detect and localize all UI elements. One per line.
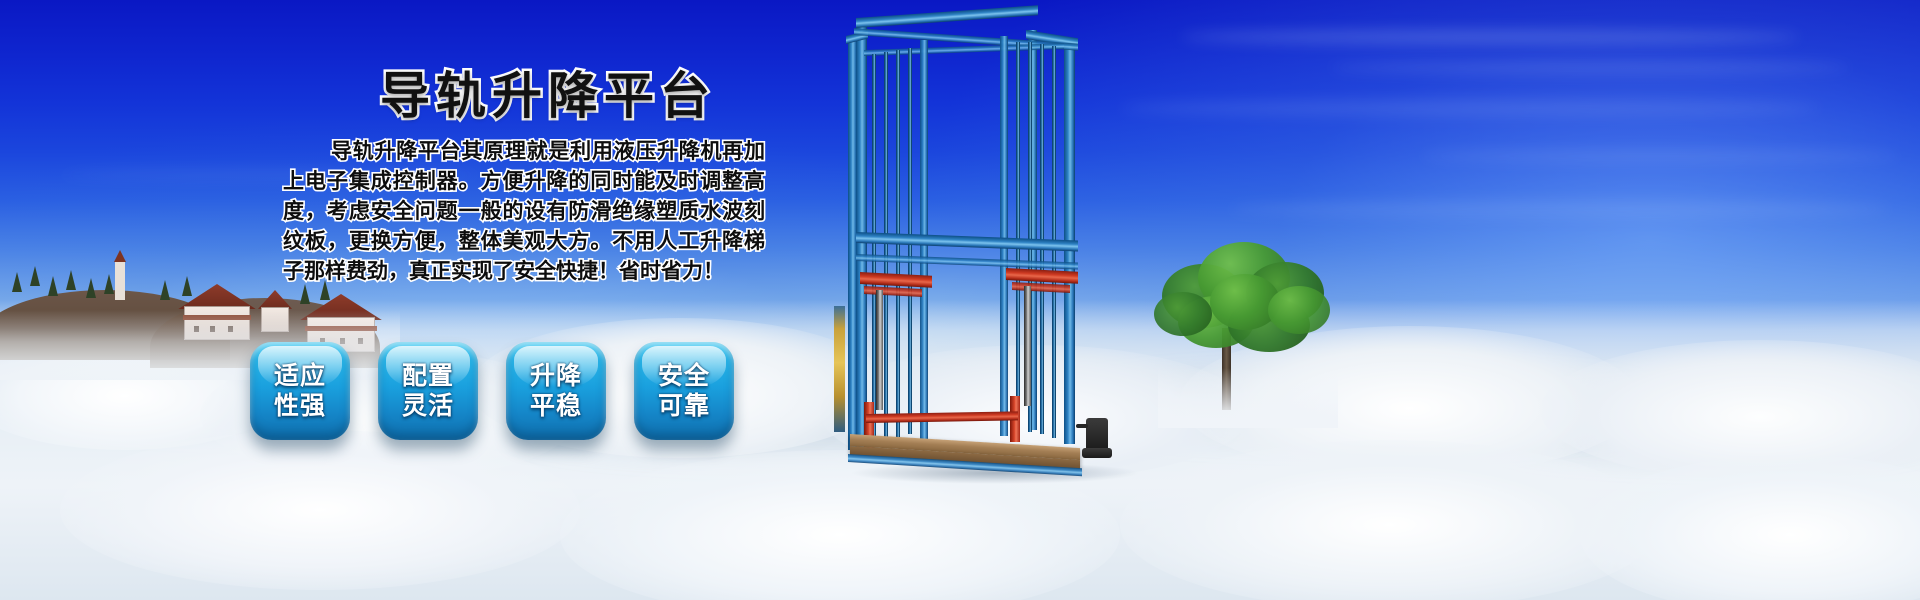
- feature-button-label-line2: 性强: [274, 391, 326, 421]
- guide-rail: [1016, 42, 1020, 432]
- pine-tree: [30, 266, 40, 286]
- tree-cloud-fade: [1158, 368, 1338, 428]
- tree-scene: [1118, 238, 1348, 398]
- lower-red-crossbar: [866, 411, 1018, 423]
- page-title: 导轨升降平台: [380, 56, 716, 128]
- power-unit: [1086, 418, 1108, 452]
- pine-tree: [66, 270, 76, 290]
- product-description: 导轨升降平台其原理就是利用液压升降机再加上电子集成控制器。方便升降的同时能及时调…: [283, 136, 765, 286]
- feature-button-adaptability[interactable]: 适应 性强: [250, 342, 350, 440]
- carriage-crossmember: [1012, 282, 1070, 293]
- tree-foliage: [1154, 292, 1212, 336]
- feature-button-group: 适应 性强 配置 灵活 升降 平稳 安全 可靠: [250, 342, 734, 440]
- church-building: [112, 260, 128, 314]
- feature-button-label-line2: 可靠: [658, 391, 710, 421]
- feature-button-safety[interactable]: 安全 可靠: [634, 342, 734, 440]
- mid-frame-beam: [856, 232, 1078, 252]
- hydraulic-cylinder: [876, 290, 883, 410]
- mid-frame-beam: [856, 254, 1078, 270]
- lift-platform-product-image: [820, 10, 1140, 480]
- feature-button-smooth-lifting[interactable]: 升降 平稳: [506, 342, 606, 440]
- feature-button-label-line1: 升降: [530, 361, 582, 391]
- pine-tree: [160, 280, 170, 300]
- feature-button-configuration[interactable]: 配置 灵活: [378, 342, 478, 440]
- centre-mast: [1000, 36, 1008, 436]
- feature-button-label-line2: 灵活: [402, 391, 454, 421]
- pine-tree: [86, 278, 96, 298]
- pine-tree: [48, 276, 58, 296]
- power-unit-base: [1082, 448, 1112, 458]
- power-unit-cable: [1076, 424, 1088, 428]
- tree-foliage: [1268, 286, 1330, 334]
- feature-button-label-line1: 适应: [274, 361, 326, 391]
- guide-rail: [884, 52, 888, 442]
- hydraulic-cylinder: [1024, 286, 1031, 406]
- pine-tree: [12, 272, 22, 292]
- feature-button-label-line2: 平稳: [530, 391, 582, 421]
- feature-button-label-line1: 安全: [658, 361, 710, 391]
- feature-button-label-line1: 配置: [402, 361, 454, 391]
- control-panel-strip: [834, 306, 845, 432]
- product-banner: 导轨升降平台 导轨升降平台其原理就是利用液压升降机再加上电子集成控制器。方便升降…: [0, 0, 1920, 600]
- roof: [178, 284, 256, 309]
